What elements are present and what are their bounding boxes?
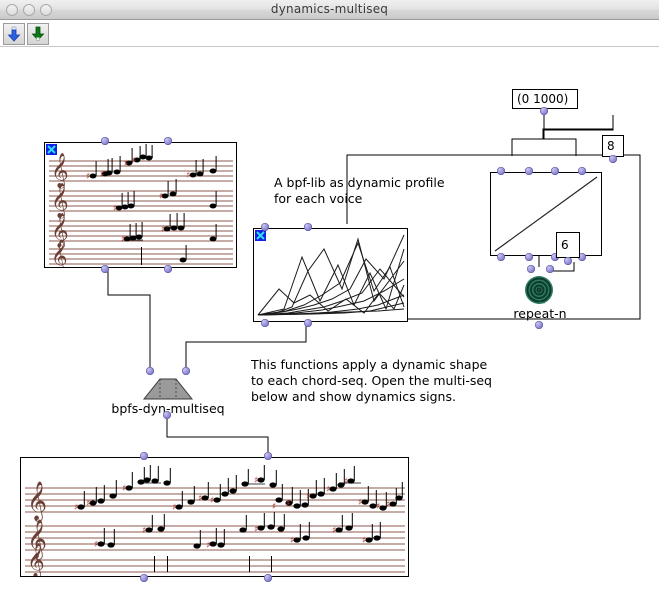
svg-text:♯: ♯	[290, 536, 294, 546]
port-bpf-out-1[interactable]	[497, 253, 505, 261]
svg-text:♯: ♯	[172, 503, 176, 513]
bpf-editor-box[interactable]	[490, 172, 602, 256]
port-repeatn-in-2[interactable]	[546, 265, 554, 273]
svg-text:♯: ♯	[124, 159, 128, 169]
svg-text:♯: ♯	[132, 156, 136, 166]
svg-text:♯: ♯	[362, 536, 366, 546]
svg-text:♯: ♯	[74, 503, 78, 513]
value-box-six[interactable]: 6	[556, 232, 580, 258]
svg-text:♯: ♯	[100, 170, 104, 180]
svg-text:♯: ♯	[272, 502, 276, 512]
blue-down-arrow-button[interactable]	[3, 23, 25, 45]
green-down-arrow-button[interactable]	[27, 23, 49, 45]
svg-text:♯: ♯	[306, 492, 310, 502]
port-bpfsdyn-out[interactable]	[163, 411, 171, 419]
range-message-box[interactable]: (0 1000)	[512, 89, 578, 109]
svg-text:♯: ♯	[198, 494, 202, 504]
svg-text:♯: ♯	[122, 484, 126, 494]
bpf-lib-curves	[254, 229, 407, 321]
value-box-eight[interactable]: 8	[602, 135, 624, 157]
port-bpf-in-3[interactable]	[551, 167, 559, 175]
repeat-n-label: repeat-n	[504, 306, 576, 321]
port-bpf-out-2[interactable]	[525, 253, 533, 261]
port-six-out[interactable]	[564, 257, 572, 265]
repeat-n-icon-box[interactable]	[524, 275, 554, 305]
music-staves-top: 𝄞 ♯♯ ♯♯ ♯	[45, 143, 236, 267]
svg-text:♯: ♯	[386, 500, 390, 510]
svg-text:♯: ♯	[326, 485, 330, 495]
bpf-lib-comment: A bpf-lib as dynamic profile for each vo…	[274, 175, 494, 207]
chord-seq-top-box[interactable]: 𝄞 ♯♯ ♯♯ ♯	[44, 142, 237, 268]
svg-text:♯: ♯	[344, 477, 348, 487]
window-title: dynamics-multiseq	[0, 2, 659, 16]
toolbar	[0, 21, 659, 47]
svg-text:♯: ♯	[206, 541, 210, 551]
port-bottomscore-in-1[interactable]	[140, 452, 148, 460]
svg-text:♯: ♯	[332, 526, 336, 536]
chord-seq-top-close-handle[interactable]	[46, 144, 57, 155]
svg-text:𝄞: 𝄞	[27, 481, 47, 522]
svg-text:♯: ♯	[161, 225, 165, 235]
port-bpflib-in-1[interactable]	[261, 223, 269, 231]
svg-text:♯: ♯	[358, 498, 362, 508]
app-window: dynamics-multiseq	[0, 0, 659, 600]
svg-text:♯: ♯	[94, 540, 98, 550]
port-bpf-in-4[interactable]	[578, 167, 586, 175]
port-bpf-in-2[interactable]	[525, 167, 533, 175]
port-range-out[interactable]	[540, 107, 548, 115]
function-comment: This functions apply a dynamic shape to …	[251, 357, 511, 405]
port-topscore-in-2[interactable]	[164, 137, 172, 145]
envelope-shape-icon	[142, 377, 194, 401]
patch-canvas[interactable]: (0 1000) 8 6	[0, 47, 659, 600]
x-icon	[46, 144, 57, 155]
port-bpfsdyn-in-1[interactable]	[146, 367, 154, 375]
svg-text:𝄞: 𝄞	[27, 543, 45, 576]
svg-text:♯: ♯	[254, 525, 258, 535]
svg-text:♯: ♯	[142, 526, 146, 536]
port-repeatn-in-1[interactable]	[527, 265, 535, 273]
svg-text:♯: ♯	[113, 204, 117, 214]
multi-seq-bottom-box[interactable]: 𝄞	[20, 457, 409, 577]
port-bottomscore-out-2[interactable]	[264, 574, 272, 582]
svg-text:♯: ♯	[186, 171, 190, 181]
port-bpflib-out-2[interactable]	[304, 319, 312, 327]
music-staves-bottom: 𝄞	[21, 458, 408, 576]
port-repeatn-out[interactable]	[535, 321, 543, 329]
port-bpflib-in-2[interactable]	[304, 223, 312, 231]
bpf-lib-editor-box[interactable]	[253, 228, 408, 322]
svg-text:♯: ♯	[86, 499, 90, 509]
svg-text:𝄞: 𝄞	[51, 239, 68, 267]
port-eight-out[interactable]	[609, 155, 617, 163]
port-bpflib-out-1[interactable]	[261, 319, 269, 327]
port-topscore-in-1[interactable]	[101, 137, 109, 145]
x-icon	[255, 230, 266, 241]
arrow-down-icon	[7, 26, 21, 42]
svg-text:♯: ♯	[286, 499, 290, 509]
title-bar: dynamics-multiseq	[0, 0, 659, 20]
bpf-curve	[491, 173, 601, 255]
svg-text:♯: ♯	[376, 502, 380, 512]
svg-text:♯: ♯	[121, 235, 125, 245]
arrow-down-icon	[31, 26, 45, 42]
port-bottomscore-out-1[interactable]	[140, 574, 148, 582]
svg-text:♯: ♯	[86, 172, 90, 182]
port-topscore-out-2[interactable]	[164, 265, 172, 273]
port-bpf-in-1[interactable]	[497, 167, 505, 175]
svg-text:♯: ♯	[254, 476, 258, 486]
port-bottomscore-in-2[interactable]	[264, 452, 272, 460]
port-bpfsdyn-in-2[interactable]	[182, 367, 190, 375]
svg-text:♯: ♯	[210, 496, 214, 506]
port-topscore-out-1[interactable]	[101, 265, 109, 273]
svg-text:♯: ♯	[159, 192, 163, 202]
bpf-lib-close-handle[interactable]	[255, 230, 266, 241]
bpfs-dyn-multiseq-icon-box[interactable]	[142, 377, 194, 401]
spiral-icon	[524, 275, 554, 305]
